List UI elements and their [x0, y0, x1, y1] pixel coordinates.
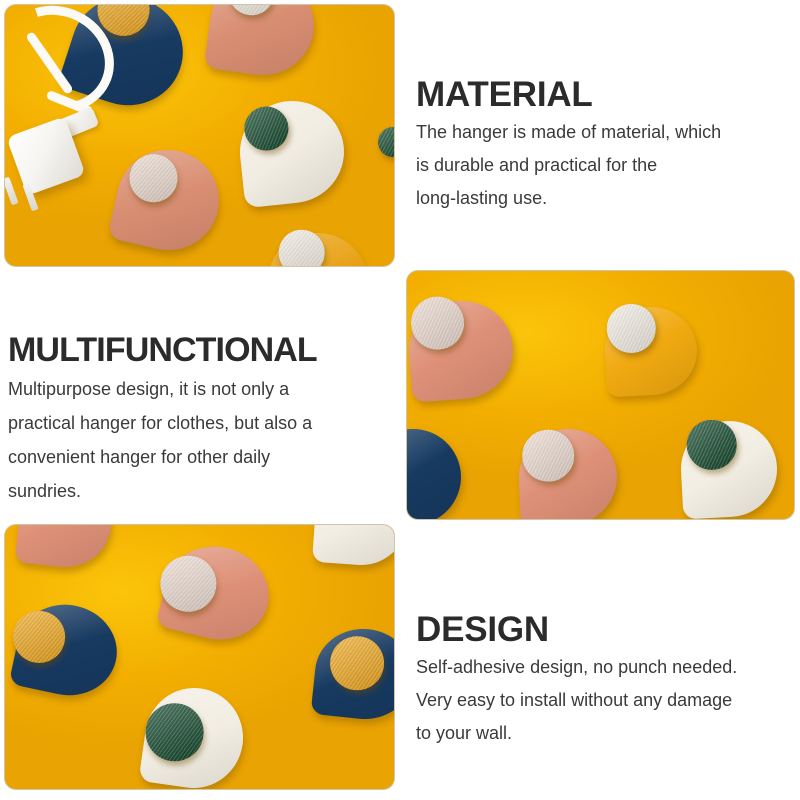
hook-navy-yellow-right: [311, 624, 394, 724]
infographic-page: MATERIAL The hanger is made of material,…: [0, 0, 800, 800]
product-photo-middle-right: [407, 271, 794, 519]
section-body-line: Very easy to install without any damage: [416, 684, 796, 717]
hook-cream-green: [679, 419, 780, 519]
section-body-line: is durable and practical for the: [416, 149, 792, 182]
product-photo-top-left: [5, 5, 394, 266]
section-material: MATERIAL The hanger is made of material,…: [416, 74, 792, 215]
product-photo-bottom-left: [5, 525, 394, 789]
section-body-line: long-lasting use.: [416, 182, 792, 215]
hook-salmon-beige-bottom: [517, 427, 618, 519]
section-heading-design: DESIGN: [416, 608, 796, 651]
hook-cream-green: [139, 682, 250, 789]
section-body-line: to your wall.: [416, 717, 796, 750]
section-multifunctional: MULTIFUNCTIONAL Multipurpose design, it …: [8, 328, 400, 508]
hook-yellow-white: [603, 305, 699, 398]
section-body-line: convenient hanger for other daily: [8, 440, 400, 474]
section-heading-multifunctional: MULTIFUNCTIONAL: [8, 328, 400, 372]
section-body-line: The hanger is made of material, which: [416, 116, 792, 149]
hook-navy-partial: [407, 427, 463, 519]
hook-cream-green-partial: [312, 525, 394, 568]
section-body-line: practical hanger for clothes, but also a: [8, 406, 400, 440]
section-body-line: sundries.: [8, 474, 400, 508]
section-heading-material: MATERIAL: [416, 74, 792, 116]
section-body-line: Self-adhesive design, no punch needed.: [416, 651, 796, 684]
hook-salmon-beige: [407, 297, 516, 402]
section-design: DESIGN Self-adhesive design, no punch ne…: [416, 608, 796, 750]
hook-cream-green: [235, 96, 349, 208]
hook-plate: [407, 427, 463, 519]
hook-plate: [312, 525, 394, 568]
section-body-line: Multipurpose design, it is not only a: [8, 372, 400, 406]
